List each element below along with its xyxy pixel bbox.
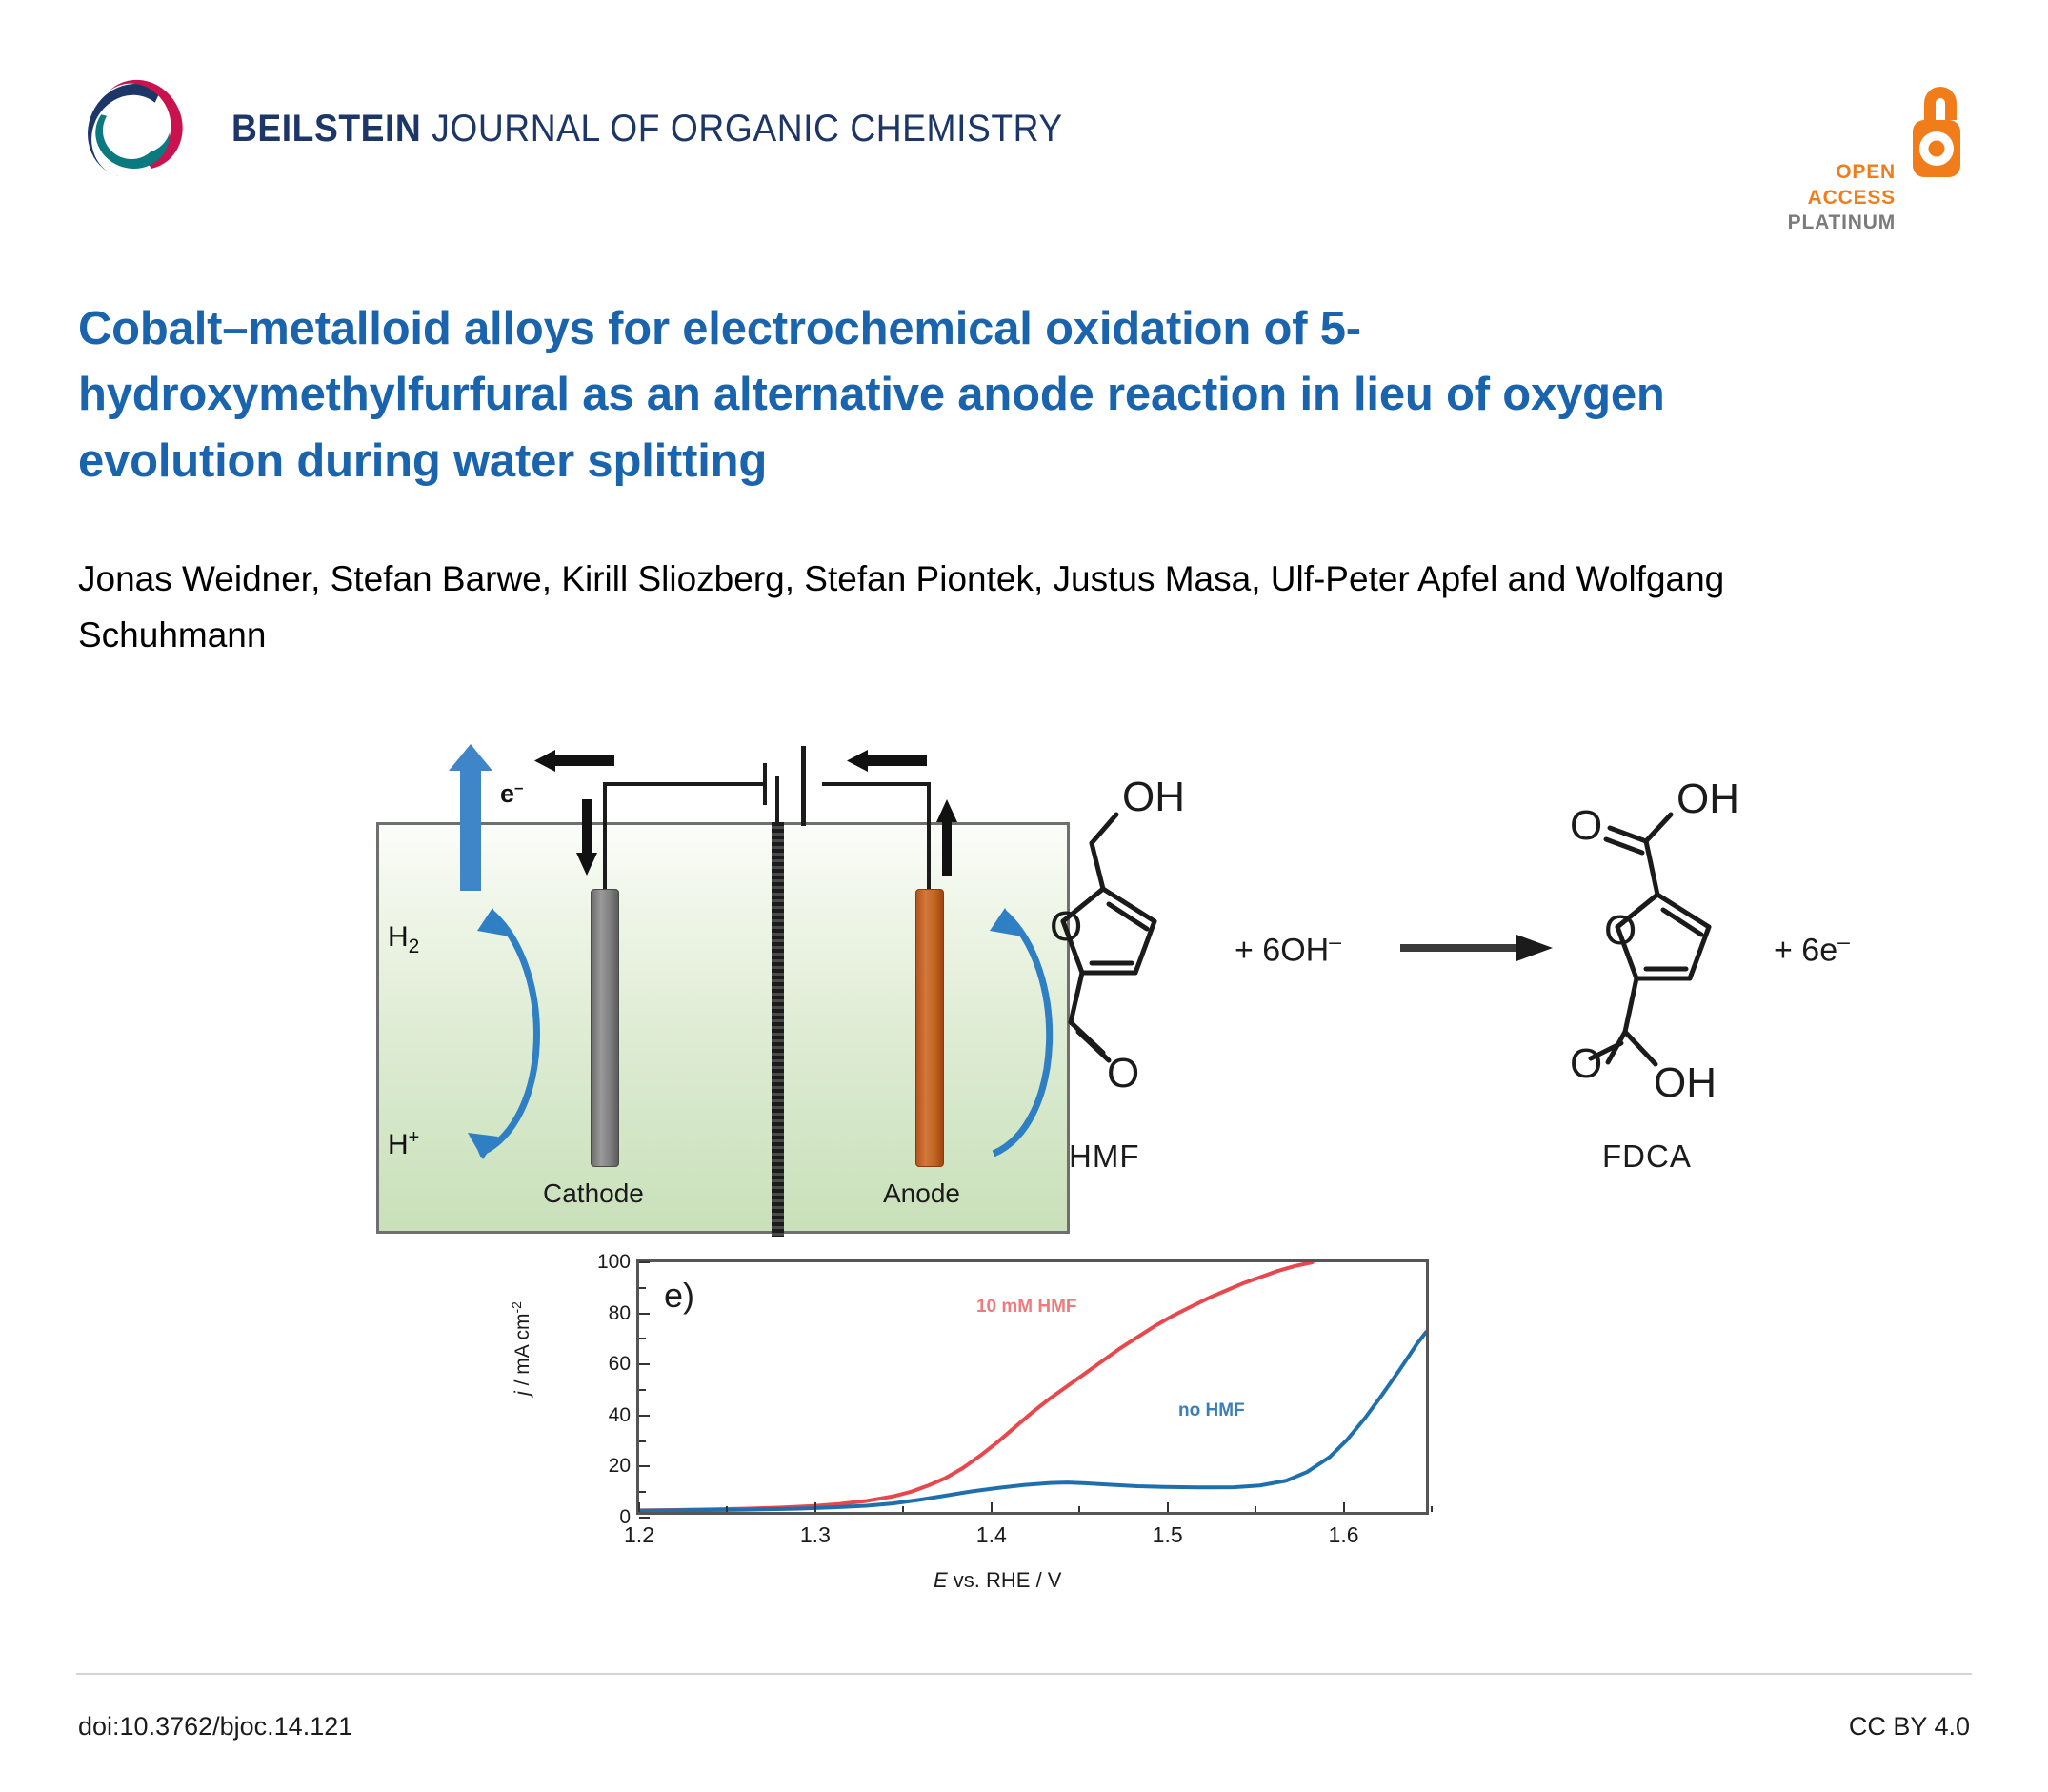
author-list: Jonas Weidner, Stefan Barwe, Kirill Slio… [78, 551, 1831, 663]
svg-text:OH: OH [1677, 775, 1739, 822]
license-text: CC BY 4.0 [1849, 1712, 1970, 1742]
reaction-scheme: OH O O HMF + 6OH– [1048, 757, 1905, 1253]
electron-byproduct-label: + 6e– [1774, 929, 1850, 969]
membrane-top-stub [775, 776, 779, 826]
y-minor-tick [639, 1491, 646, 1493]
open-access-badge: OPEN ACCESS PLATINUM [1797, 78, 1974, 185]
journal-title-bold: BEILSTEIN [231, 108, 421, 150]
oa-open-label: OPEN [1788, 160, 1896, 186]
y-tick-label: 40 [609, 1404, 631, 1427]
hydroxide-reagent-label: + 6OH– [1235, 929, 1341, 969]
electron-in-arrow [574, 799, 599, 876]
x-minor-tick [1078, 1506, 1080, 1512]
chart-y-axis-label: j / mA cm-2 [509, 1301, 534, 1396]
current-arrow-left [534, 748, 616, 773]
y-minor-tick [639, 1389, 646, 1391]
electrochemical-cell-diagram: e– H2 H+ Cathode Anode [348, 719, 1072, 1253]
x-tick-mark [1167, 1502, 1169, 1512]
y-tick-mark [639, 1363, 650, 1365]
oa-access-label: ACCESS [1788, 186, 1896, 211]
x-tick-label: 1.5 [1153, 1522, 1183, 1548]
polarization-curve-chart: j / mA cm-2 E vs. RHE / V e) 02040608010… [524, 1248, 1562, 1610]
current-arrow-right [847, 748, 929, 773]
x-tick-label: 1.4 [976, 1522, 1007, 1548]
chart-plot-area: e) 0204060801001.21.31.41.51.6 10 mM HMF… [636, 1259, 1429, 1515]
x-tick-label: 1.3 [800, 1522, 831, 1548]
doi-text: doi:10.3762/bjoc.14.121 [78, 1712, 352, 1742]
journal-title-rest: JOURNAL OF ORGANIC CHEMISTRY [421, 108, 1062, 150]
svg-text:O: O [1050, 903, 1082, 950]
open-lock-icon [1911, 78, 1976, 185]
ion-exchange-membrane [772, 822, 784, 1237]
series-no-hmf [639, 1332, 1426, 1510]
page-title: Cobalt–metalloid alloys for electrochemi… [78, 296, 1850, 495]
svg-text:OH: OH [1654, 1059, 1717, 1106]
electron-label: e– [500, 778, 524, 809]
y-tick-mark [639, 1517, 650, 1519]
series-label-10-mm-hmf: 10 mM HMF [976, 1297, 1077, 1318]
svg-text:O: O [1604, 907, 1636, 954]
y-minor-tick [639, 1440, 646, 1442]
y-tick-label: 60 [609, 1353, 631, 1376]
svg-text:O: O [1570, 802, 1602, 849]
hydrogen-evolution-arrow [460, 769, 481, 891]
cathode-reaction-arc [449, 898, 563, 1165]
y-tick-label: 20 [609, 1455, 631, 1478]
x-minor-tick [902, 1506, 904, 1512]
footer-divider [76, 1673, 1972, 1675]
x-minor-tick [726, 1506, 728, 1512]
cathode-electrode [591, 889, 619, 1167]
x-tick-mark [991, 1502, 993, 1512]
battery-long-plate [801, 746, 806, 826]
chart-x-axis-label: E vs. RHE / V [934, 1568, 1061, 1593]
anode-electrode [915, 889, 944, 1167]
series-label-no-hmf: no HMF [1178, 1400, 1245, 1421]
x-tick-label: 1.6 [1329, 1522, 1359, 1548]
battery-short-plate [763, 763, 767, 805]
y-tick-label: 100 [597, 1251, 631, 1274]
y-tick-label: 80 [609, 1302, 631, 1325]
oa-platinum-label: PLATINUM [1788, 211, 1896, 236]
graphical-abstract-figure: e– H2 H+ Cathode Anode [324, 719, 1924, 1605]
y-tick-mark [639, 1313, 650, 1315]
proton-species-label: H+ [388, 1127, 419, 1161]
wire-anode-vertical [927, 782, 931, 896]
beilstein-logo [74, 74, 189, 187]
y-tick-mark [639, 1465, 650, 1467]
x-tick-mark [638, 1502, 640, 1512]
x-tick-mark [814, 1502, 816, 1512]
x-tick-label: 1.2 [624, 1522, 654, 1548]
h2-species-label: H2 [388, 921, 419, 958]
fdca-caption: FDCA [1602, 1138, 1692, 1175]
hmf-caption: HMF [1069, 1138, 1139, 1175]
anode-label: Anode [883, 1178, 960, 1209]
page-masthead: BEILSTEIN JOURNAL OF ORGANIC CHEMISTRY O… [0, 0, 2048, 238]
cathode-label: Cathode [543, 1178, 644, 1209]
wire-anode-horizontal [822, 782, 931, 786]
reaction-arrow [1400, 933, 1553, 965]
wire-cathode-vertical [603, 782, 607, 896]
electron-out-arrow [934, 799, 959, 876]
svg-text:O: O [1107, 1050, 1139, 1097]
x-minor-tick [1255, 1506, 1256, 1512]
y-minor-tick [639, 1338, 646, 1339]
y-tick-mark [639, 1415, 650, 1417]
y-minor-tick [639, 1287, 646, 1289]
y-tick-mark [639, 1261, 650, 1263]
x-tick-mark [1343, 1502, 1345, 1512]
svg-text:OH: OH [1122, 776, 1185, 820]
journal-title: BEILSTEIN JOURNAL OF ORGANIC CHEMISTRY [231, 108, 1063, 151]
x-minor-tick [1431, 1506, 1433, 1512]
wire-cathode-horizontal [603, 782, 763, 786]
svg-text:O: O [1570, 1040, 1602, 1087]
